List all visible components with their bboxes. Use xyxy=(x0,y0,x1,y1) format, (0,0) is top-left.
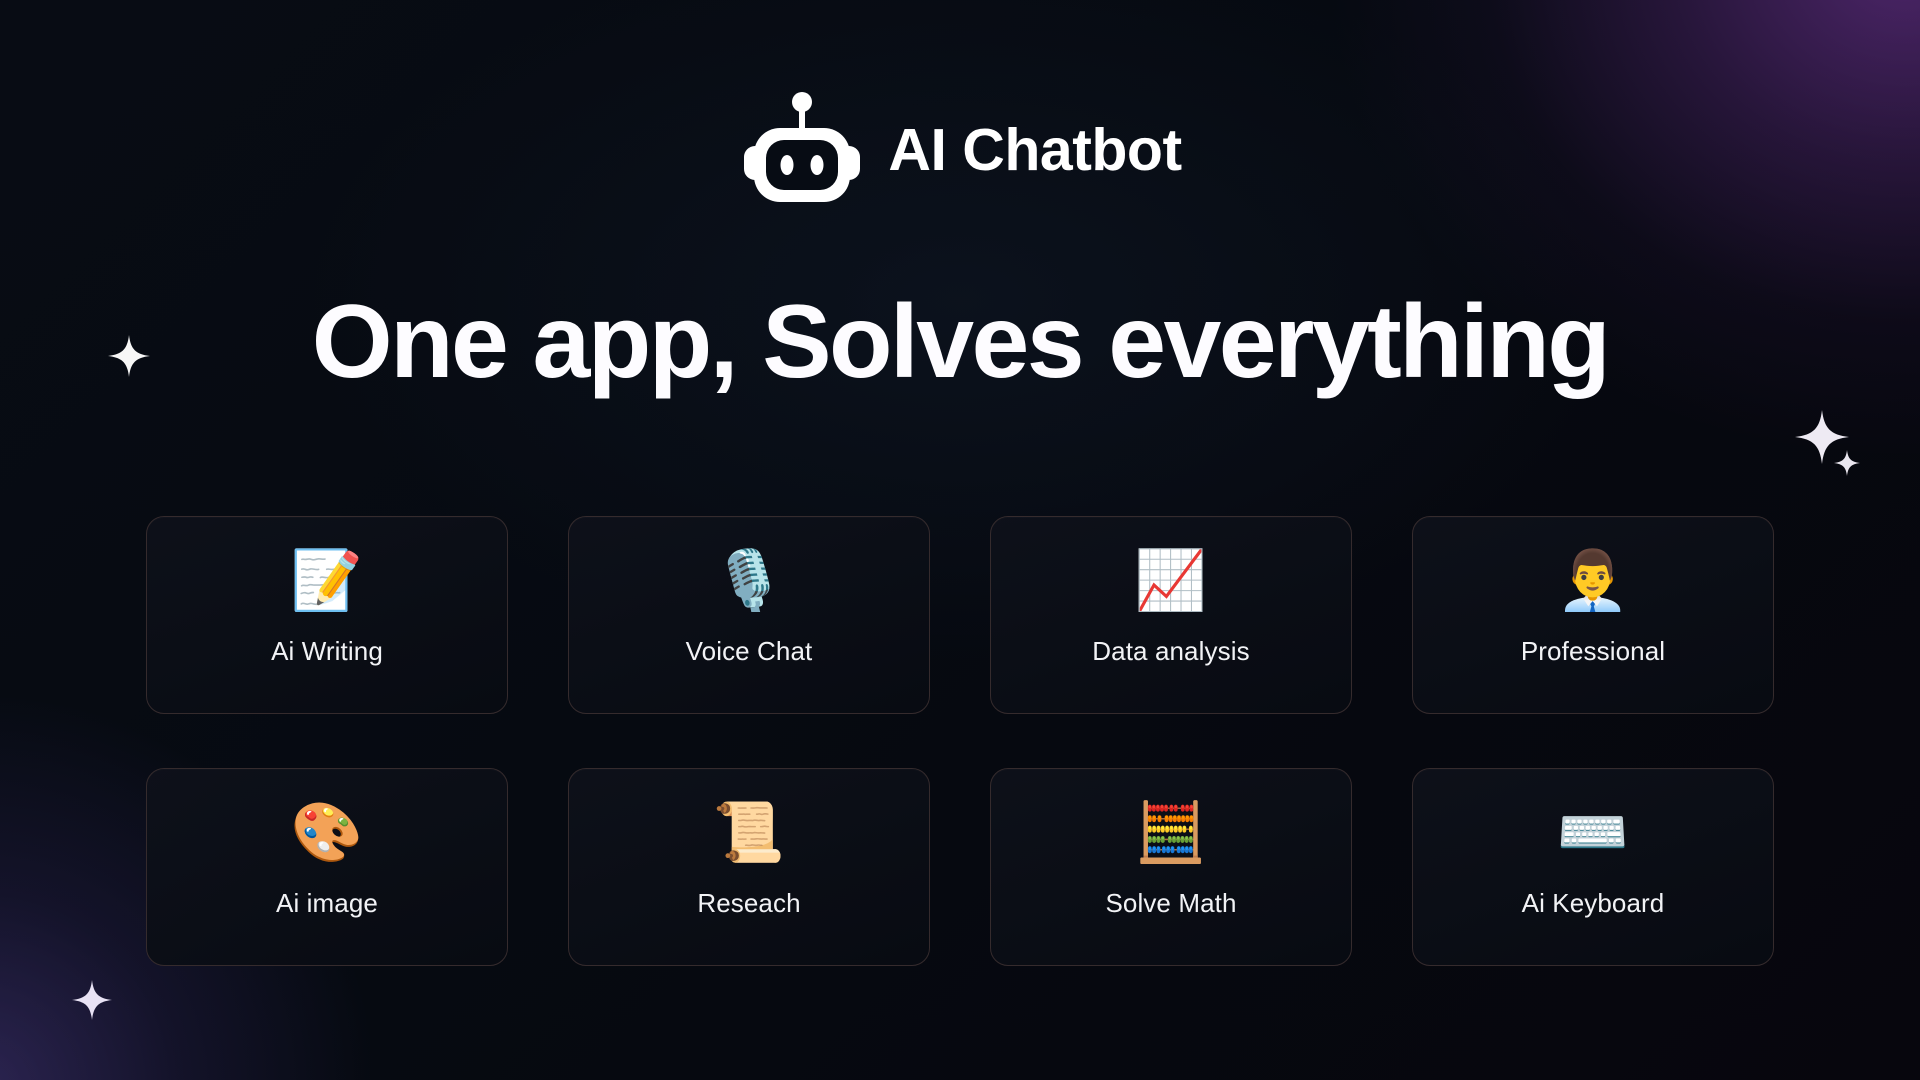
feature-card-label: Solve Math xyxy=(1105,888,1236,919)
app-root: AI Chatbot One app, Solves everything 📝 … xyxy=(0,0,1920,1080)
feature-card-label: Voice Chat xyxy=(686,636,813,667)
feature-card-ai-image[interactable]: 🎨 Ai image xyxy=(146,768,508,966)
math-symbols-icon: 🧮 xyxy=(1135,800,1207,866)
chart-increasing-icon: 📈 xyxy=(1135,548,1207,614)
sparkle-icon xyxy=(108,335,150,377)
robot-head-icon xyxy=(738,86,866,214)
sparkle-icon xyxy=(72,980,112,1020)
office-worker-icon: 👨‍💼 xyxy=(1557,548,1629,614)
artist-palette-icon: 🎨 xyxy=(291,800,363,866)
feature-card-research[interactable]: 📜 Reseach xyxy=(568,768,930,966)
studio-microphone-icon: 🎙️ xyxy=(713,548,785,614)
feature-card-ai-keyboard[interactable]: ⌨️ Ai Keyboard xyxy=(1412,768,1774,966)
feature-card-label: Ai Writing xyxy=(271,636,383,667)
feature-card-label: Professional xyxy=(1521,636,1665,667)
feature-card-label: Ai Keyboard xyxy=(1522,888,1665,919)
brand-title: AI Chatbot xyxy=(888,121,1181,180)
feature-card-label: Data analysis xyxy=(1092,636,1249,667)
scroll-icon: 📜 xyxy=(713,800,785,866)
feature-card-ai-writing[interactable]: 📝 Ai Writing xyxy=(146,516,508,714)
feature-card-voice-chat[interactable]: 🎙️ Voice Chat xyxy=(568,516,930,714)
feature-card-solve-math[interactable]: 🧮 Solve Math xyxy=(990,768,1352,966)
sparkle-icon xyxy=(1834,450,1860,476)
memo-icon: 📝 xyxy=(291,548,363,614)
brand-header: AI Chatbot xyxy=(0,86,1920,214)
feature-card-label: Ai image xyxy=(276,888,378,919)
keyboard-icon: ⌨️ xyxy=(1557,800,1629,866)
feature-card-label: Reseach xyxy=(697,888,800,919)
feature-card-professional[interactable]: 👨‍💼 Professional xyxy=(1412,516,1774,714)
feature-grid: 📝 Ai Writing 🎙️ Voice Chat 📈 Data analys… xyxy=(146,516,1774,966)
page-title: One app, Solves everything xyxy=(0,287,1920,397)
feature-card-data-analysis[interactable]: 📈 Data analysis xyxy=(990,516,1352,714)
